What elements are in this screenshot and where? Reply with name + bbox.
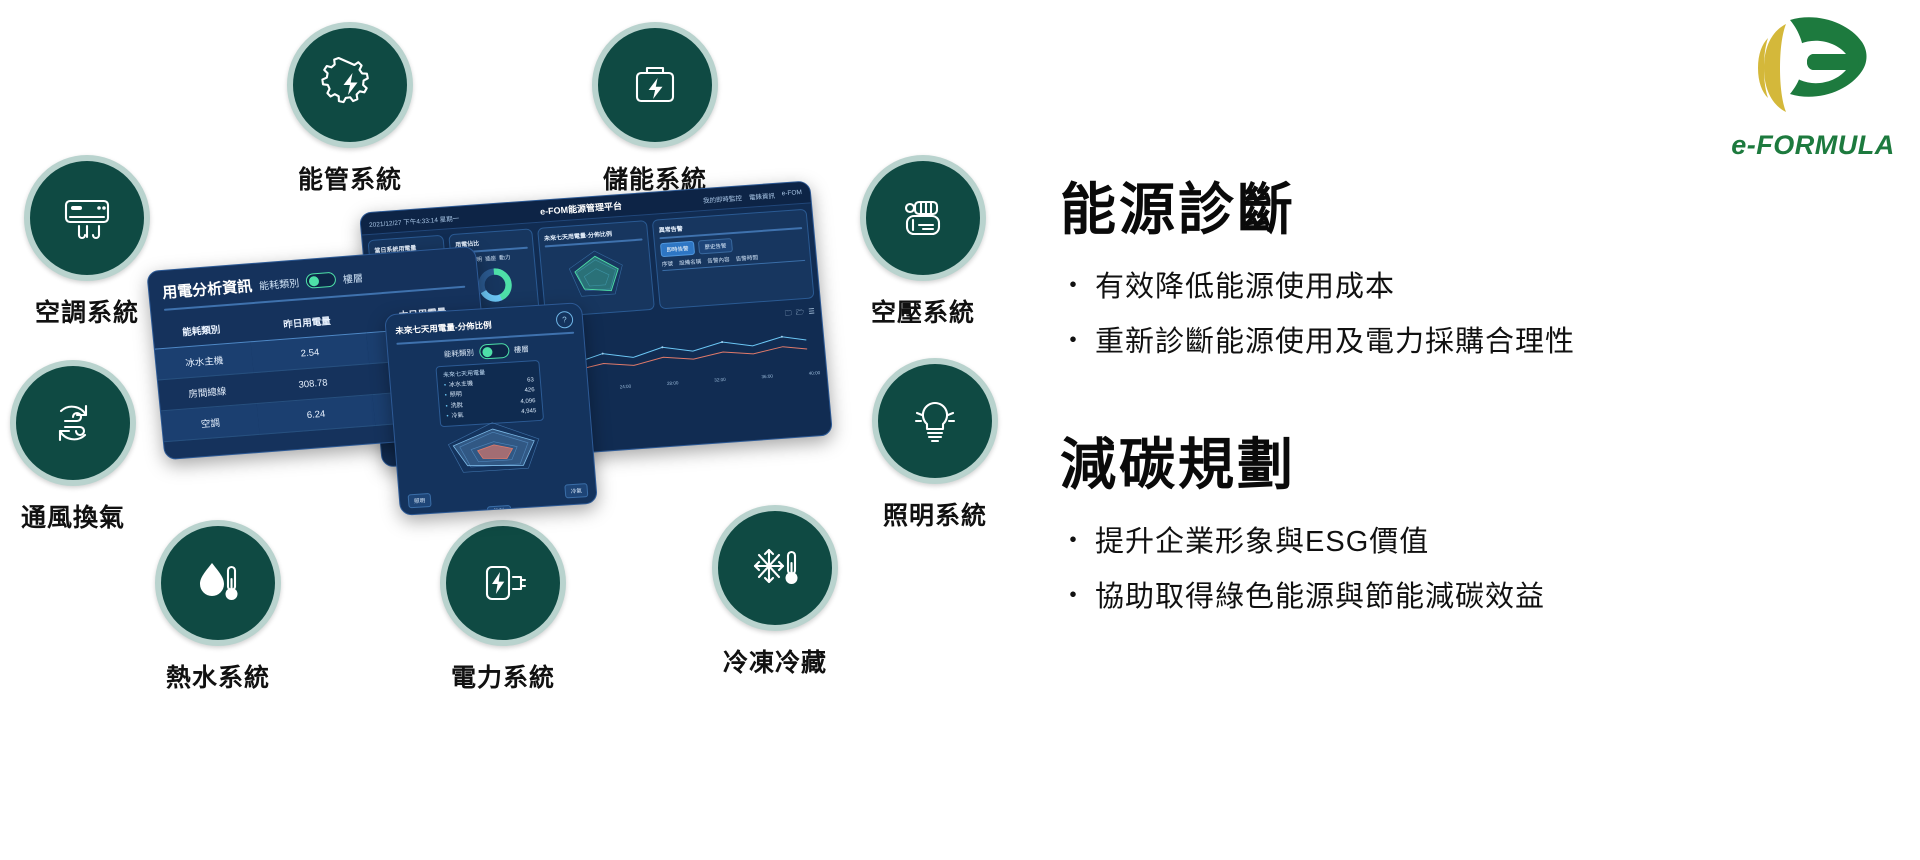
panel-title: 用電分析資訊 <box>161 275 253 303</box>
air-conditioner-icon <box>24 155 150 281</box>
folder-icon[interactable]: 🗀 <box>784 309 792 320</box>
alarm-col-content: 告警內容 <box>707 255 730 265</box>
water-drop-thermometer-icon <box>155 520 281 646</box>
gear-power-icon <box>287 22 413 148</box>
badge-refrigeration[interactable]: 冷凍冷藏 <box>700 505 850 679</box>
power-plug-battery-icon <box>440 520 566 646</box>
bullet-marker: ・ <box>1060 515 1087 566</box>
badge-lighting[interactable]: 照明系統 <box>860 358 1010 532</box>
radar-chart <box>545 240 648 309</box>
toggle-left-label: 能耗類別 <box>258 274 299 292</box>
panel-forecast-distribution[interactable]: 未來七天用電量-分佈比例 ? 能耗類別 樓層 未來七天用電量 冰水主機63 照明… <box>384 302 598 516</box>
nav-item-account[interactable]: e-FOM <box>781 189 802 197</box>
axis-tick: 40:00 <box>809 370 821 376</box>
badge-ems[interactable]: 能管系統 <box>275 22 425 196</box>
radar-chart <box>394 412 595 486</box>
battery-icon <box>592 22 718 148</box>
badge-air-compressor[interactable]: 空壓系統 <box>848 155 998 329</box>
toggle-right-label: 樓層 <box>342 270 363 286</box>
badge-label: 熱水系統 <box>143 658 293 694</box>
alarm-col-seq: 序號 <box>661 259 673 268</box>
alarm-col-time: 告警時間 <box>735 253 758 263</box>
card-alarm: 異常告警 即時告警 歷史告警 序號 設備名稱 告警內容 告警時間 <box>652 209 815 310</box>
ventilation-icon <box>10 360 136 486</box>
air-compressor-icon <box>860 155 986 281</box>
bullet-item: ・ 有效降低能源使用成本 <box>1060 260 1900 315</box>
section-energy-diagnosis: 能源診斷 ・ 有效降低能源使用成本 ・ 重新診斷能源使用及電力採購合理性 <box>1060 178 1900 371</box>
section-carbon-reduction: 減碳規劃 ・ 提升企業形象與ESG價值 ・ 協助取得綠色能源與節能減碳效益 <box>1060 433 1900 626</box>
infographic-stage: 空調系統 能管系統 儲能系統 <box>0 0 1920 860</box>
tab-realtime-alarm[interactable]: 即時告警 <box>660 241 695 257</box>
bullet-list: ・ 提升企業形象與ESG價值 ・ 協助取得綠色能源與節能減碳效益 <box>1060 515 1900 625</box>
section-heading: 減碳規劃 <box>1060 433 1900 497</box>
badge-label: 能管系統 <box>275 160 425 196</box>
alarm-col-device: 設備名稱 <box>679 257 702 267</box>
legend-value: 63 <box>527 375 534 386</box>
panel-title: 未來七天用電量-分佈比例 <box>395 318 492 336</box>
badge-label: 空壓系統 <box>848 293 998 329</box>
list-icon[interactable]: ☰ <box>808 307 815 318</box>
badge-hvac[interactable]: 空調系統 <box>12 155 162 329</box>
badge-label: 電力系統 <box>428 658 578 694</box>
axis-tick: 24:00 <box>619 384 631 390</box>
nav-item-monitor[interactable]: 我的即時監控 <box>702 192 742 205</box>
folder-open-icon[interactable]: 🗁 <box>795 308 805 320</box>
bullet-item: ・ 提升企業形象與ESG價值 <box>1060 515 1900 570</box>
tag-lighting[interactable]: 照明 <box>408 493 432 508</box>
bullet-item: ・ 協助取得綠色能源與節能減碳效益 <box>1060 570 1900 625</box>
nav-item-meter[interactable]: 電錶資訊 <box>748 189 775 201</box>
e-formula-mark-icon <box>1738 8 1888 128</box>
bullet-text: 提升企業形象與ESG價值 <box>1095 515 1429 570</box>
cell-name: 空調 <box>161 403 260 441</box>
bullet-item: ・ 重新診斷能源使用及電力採購合理性 <box>1060 315 1900 370</box>
badge-ventilation[interactable]: 通風換氣 <box>0 360 148 534</box>
bullet-text: 重新診斷能源使用及電力採購合理性 <box>1095 315 1575 370</box>
legend-value: 426 <box>524 386 535 397</box>
tag-cooling[interactable]: 冷氣 <box>564 483 588 498</box>
bullet-text: 協助取得綠色能源與節能減碳效益 <box>1095 570 1545 625</box>
category-floor-toggle[interactable] <box>305 272 336 289</box>
bullet-list: ・ 有效降低能源使用成本 ・ 重新診斷能源使用及電力採購合理性 <box>1060 260 1900 370</box>
bullet-marker: ・ <box>1060 260 1087 311</box>
question-mark-icon[interactable]: ? <box>555 311 573 329</box>
badge-label: 冷凍冷藏 <box>700 643 850 679</box>
axis-tick: 32:00 <box>714 377 726 383</box>
platform-timestamp: 2021/12/27 下午4:33:14 星期一 <box>369 212 460 228</box>
platform-title: e-FOM能源管理平台 <box>540 199 623 218</box>
tag-washing[interactable]: 洗脫 <box>487 505 511 516</box>
badge-hot-water[interactable]: 熱水系統 <box>143 520 293 694</box>
badge-label: 通風換氣 <box>0 498 148 534</box>
category-floor-toggle[interactable] <box>478 343 509 360</box>
logo-wordmark: e-FORMULA <box>1718 130 1908 161</box>
toggle-right-label: 樓層 <box>513 344 529 356</box>
snowflake-thermometer-icon <box>712 505 838 631</box>
tab-history-alarm[interactable]: 歷史告警 <box>698 238 733 254</box>
bullet-marker: ・ <box>1060 315 1087 366</box>
badge-ess[interactable]: 儲能系統 <box>580 22 730 196</box>
bullet-marker: ・ <box>1060 570 1087 621</box>
section-heading: 能源診斷 <box>1060 178 1900 242</box>
badge-power[interactable]: 電力系統 <box>428 520 578 694</box>
badge-label: 照明系統 <box>860 496 1010 532</box>
toggle-left-label: 能耗類別 <box>444 347 475 360</box>
copy-column: 能源診斷 ・ 有效降低能源使用成本 ・ 重新診斷能源使用及電力採購合理性 減碳規… <box>1060 178 1900 625</box>
light-bulb-icon <box>872 358 998 484</box>
bullet-text: 有效降低能源使用成本 <box>1095 260 1395 315</box>
axis-tick: 36:00 <box>761 373 773 379</box>
badge-label: 空調系統 <box>12 293 162 329</box>
brand-logo: e-FORMULA <box>1718 8 1908 161</box>
axis-tick: 28:00 <box>667 380 679 386</box>
